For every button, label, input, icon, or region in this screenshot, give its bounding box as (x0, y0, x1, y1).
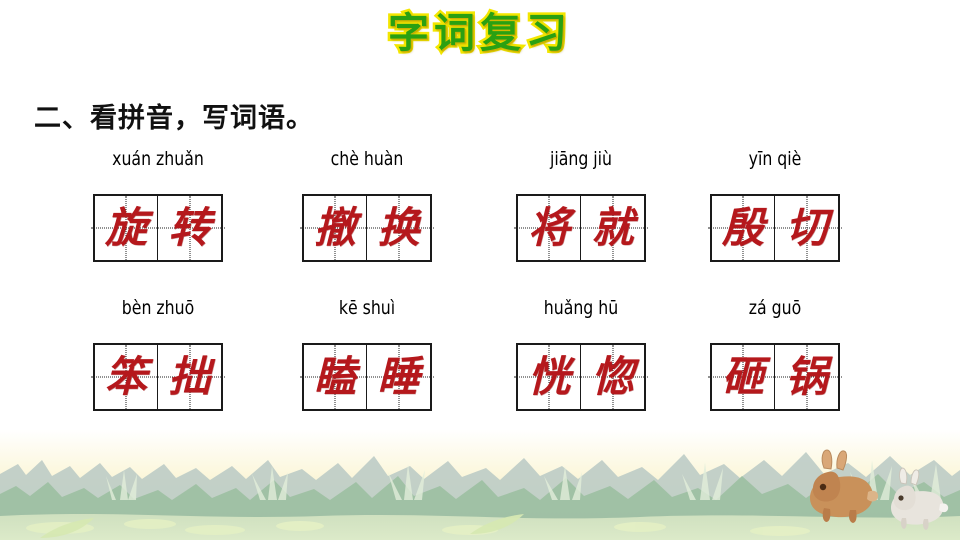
grass-blades (106, 460, 941, 500)
footer-illustration (0, 430, 960, 540)
rabbit-brown-tail (867, 491, 878, 502)
rabbit-brown-head (813, 472, 840, 502)
rabbit-white-head (894, 486, 916, 511)
character-cell[interactable]: 睡 (367, 345, 430, 409)
character-cell[interactable]: 切 (775, 196, 838, 260)
character-cell[interactable]: 拙 (158, 345, 221, 409)
ground-highlights (26, 519, 810, 536)
character-glyph: 切 (775, 196, 838, 260)
leaf-shapes (40, 514, 524, 538)
rabbit-brown-ear-left (822, 450, 832, 469)
rabbit-brown-body (810, 476, 873, 517)
character-glyph: 惚 (581, 345, 644, 409)
rabbit-brown-ear-right (837, 451, 847, 470)
page-title: 字词复习 (388, 8, 572, 59)
character-glyph: 拙 (158, 345, 221, 409)
character-glyph: 睡 (367, 345, 430, 409)
pinyin-label: jiāng jiù (521, 148, 641, 172)
exercise-item-5: bèn zhuō 笨 拙 (93, 297, 223, 411)
character-cell[interactable]: 转 (158, 196, 221, 260)
exercise-row-1: xuán zhuǎn 旋 转 chè huàn 撤 换 (0, 148, 960, 278)
character-glyph: 笨 (95, 345, 157, 409)
character-glyph: 转 (158, 196, 221, 260)
title-container: 字词复习 (0, 8, 960, 59)
exercise-item-4: yīn qiè 殷 切 (710, 148, 840, 262)
footer-sky (0, 430, 960, 540)
character-cell[interactable]: 锅 (775, 345, 838, 409)
rabbit-white-ear-left (900, 468, 907, 484)
character-glyph: 殷 (712, 196, 774, 260)
exercise-item-7: huǎng hū 恍 惚 (516, 297, 646, 411)
character-grid[interactable]: 砸 锅 (710, 343, 840, 411)
exercise-item-8: zá guō 砸 锅 (710, 297, 840, 411)
rabbit-white-leg-back (923, 519, 929, 530)
grass-far-layer (0, 452, 960, 540)
pinyin-label: zá guō (715, 297, 835, 321)
character-cell[interactable]: 换 (367, 196, 430, 260)
pinyin-label: yīn qiè (715, 148, 835, 172)
character-glyph: 将 (518, 196, 580, 260)
character-cell[interactable]: 笨 (95, 345, 158, 409)
character-glyph: 恍 (518, 345, 580, 409)
pinyin-label: kē shuì (307, 297, 427, 321)
grass-mid-layer (0, 474, 960, 540)
section-heading: 二、看拼音，写词语。 (34, 96, 314, 135)
exercise-item-1: xuán zhuǎn 旋 转 (93, 148, 223, 262)
rabbit-white-ear-right (911, 470, 919, 485)
rabbit-white-tail (939, 503, 948, 512)
character-glyph: 锅 (775, 345, 838, 409)
character-cell[interactable]: 撤 (304, 196, 367, 260)
character-grid[interactable]: 撤 换 (302, 194, 432, 262)
pinyin-label: chè huàn (307, 148, 427, 172)
pinyin-label: bèn zhuō (98, 297, 218, 321)
character-cell[interactable]: 惚 (581, 345, 644, 409)
character-glyph: 砸 (712, 345, 774, 409)
character-grid[interactable]: 恍 惚 (516, 343, 646, 411)
character-cell[interactable]: 就 (581, 196, 644, 260)
character-cell[interactable]: 将 (518, 196, 581, 260)
character-cell[interactable]: 瞌 (304, 345, 367, 409)
character-cell[interactable]: 殷 (712, 196, 775, 260)
exercise-item-2: chè huàn 撤 换 (302, 148, 432, 262)
rabbit-brown (810, 450, 878, 523)
character-grid[interactable]: 瞌 睡 (302, 343, 432, 411)
rabbit-white-body (891, 491, 943, 525)
exercise-row-2: bèn zhuō 笨 拙 kē shuì 瞌 睡 (0, 297, 960, 427)
slide-canvas: 字词复习 二、看拼音，写词语。 xuán zhuǎn 旋 转 chè huàn … (0, 0, 960, 540)
rabbit-white-eye (898, 495, 903, 500)
exercise-item-6: kē shuì 瞌 睡 (302, 297, 432, 411)
character-cell[interactable]: 恍 (518, 345, 581, 409)
character-grid[interactable]: 笨 拙 (93, 343, 223, 411)
character-grid[interactable]: 旋 转 (93, 194, 223, 262)
rabbit-white-leg-front (901, 518, 907, 529)
character-grid[interactable]: 殷 切 (710, 194, 840, 262)
rabbit-white (891, 468, 948, 530)
character-glyph: 就 (581, 196, 644, 260)
pinyin-label: xuán zhuǎn (98, 148, 218, 172)
rabbit-brown-leg-front (823, 508, 831, 522)
character-glyph: 瞌 (304, 345, 366, 409)
character-cell[interactable]: 旋 (95, 196, 158, 260)
ground-layer (0, 514, 960, 540)
character-glyph: 旋 (95, 196, 157, 260)
character-glyph: 撤 (304, 196, 366, 260)
character-grid[interactable]: 将 就 (516, 194, 646, 262)
character-cell[interactable]: 砸 (712, 345, 775, 409)
exercise-item-3: jiāng jiù 将 就 (516, 148, 646, 262)
character-glyph: 换 (367, 196, 430, 260)
rabbit-brown-leg-back (849, 510, 857, 523)
pinyin-label: huǎng hū (521, 297, 641, 321)
rabbit-brown-eye (820, 484, 826, 490)
